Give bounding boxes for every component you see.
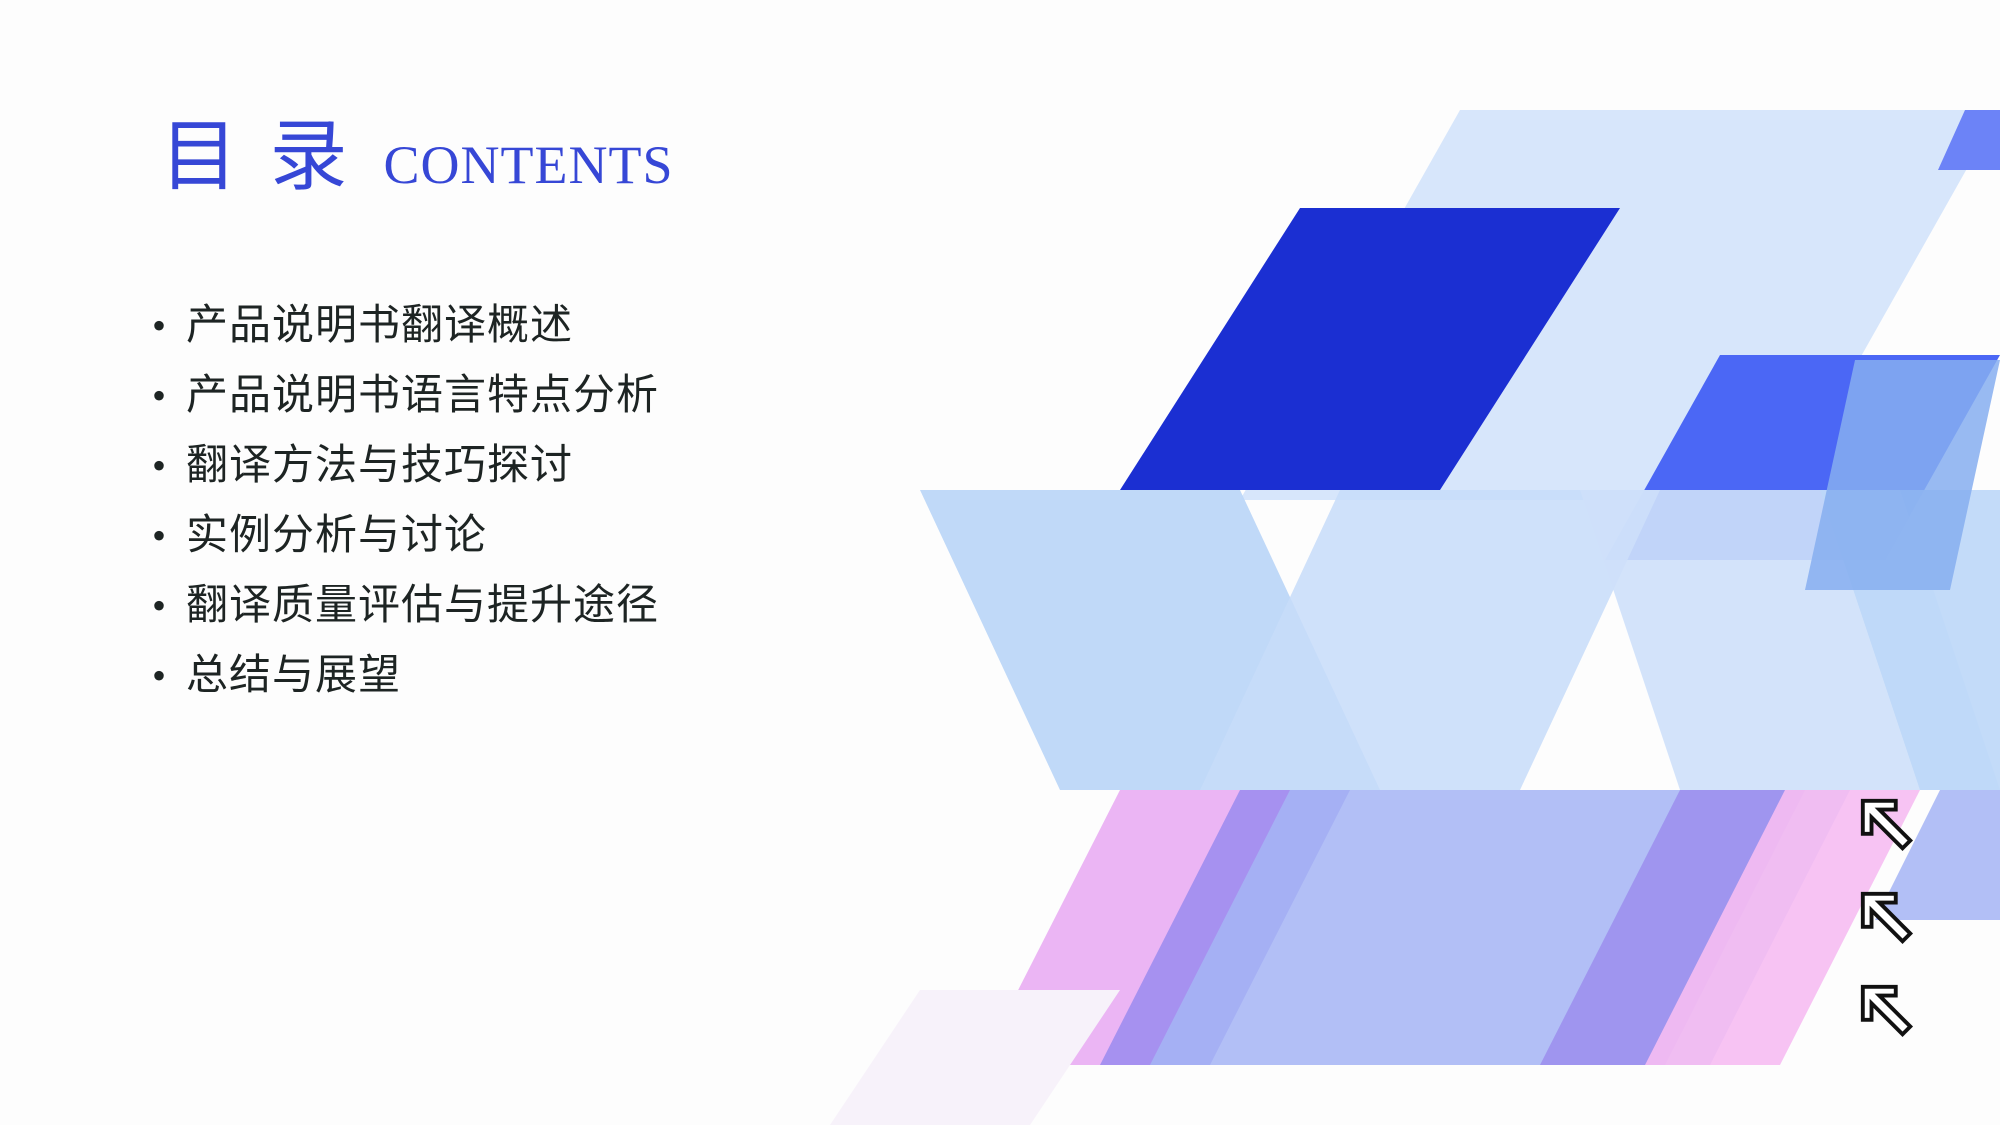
arrow-icon-cluster bbox=[1857, 795, 1927, 1045]
parallelogram-decoration bbox=[820, 0, 2000, 1125]
list-item[interactable]: • 翻译方法与技巧探讨 bbox=[152, 440, 659, 492]
list-item-label: 实例分析与讨论 bbox=[186, 510, 487, 562]
shape-periwinkle-wide bbox=[1150, 790, 1850, 1065]
page-title-cn: 目 录 bbox=[160, 118, 354, 196]
shape-deep-blue bbox=[1120, 208, 1620, 490]
bullet-icon: • bbox=[152, 650, 186, 702]
list-item-label: 总结与展望 bbox=[186, 650, 401, 702]
shape-orchid bbox=[980, 790, 1290, 1065]
page-title-en: CONTENTS bbox=[384, 138, 674, 192]
table-of-contents: • 产品说明书翻译概述 • 产品说明书语言特点分析 • 翻译方法与技巧探讨 • … bbox=[152, 300, 659, 720]
slide-canvas: 目 录 CONTENTS • 产品说明书翻译概述 • 产品说明书语言特点分析 •… bbox=[0, 0, 2000, 1125]
list-item-label: 产品说明书翻译概述 bbox=[186, 300, 573, 352]
shape-violet-left bbox=[1100, 790, 1350, 1065]
bullet-icon: • bbox=[152, 510, 186, 562]
shape-royal-blue-upper bbox=[1605, 355, 2000, 560]
arrow-up-left-icon[interactable] bbox=[1857, 888, 1919, 950]
shape-light-blue-center-right bbox=[1580, 490, 2000, 790]
page-title: 目 录 CONTENTS bbox=[160, 118, 674, 196]
list-item[interactable]: • 产品说明书翻译概述 bbox=[152, 300, 659, 352]
shape-royal-blue-corner bbox=[1938, 110, 2000, 170]
shape-light-blue-center bbox=[1200, 490, 1660, 790]
list-item-label: 产品说明书语言特点分析 bbox=[186, 370, 659, 422]
shape-light-blue-right bbox=[1820, 490, 2000, 790]
shape-light-blue-left-mirror bbox=[920, 490, 1380, 790]
arrow-up-left-icon[interactable] bbox=[1857, 981, 1919, 1043]
shape-mid-blue-right-block bbox=[1805, 360, 2000, 590]
bullet-icon: • bbox=[152, 370, 186, 422]
bullet-icon: • bbox=[152, 440, 186, 492]
arrow-up-left-icon[interactable] bbox=[1857, 795, 1919, 857]
content-column: 目 录 CONTENTS • 产品说明书翻译概述 • 产品说明书语言特点分析 •… bbox=[0, 0, 900, 1125]
bullet-icon: • bbox=[152, 300, 186, 352]
list-item-label: 翻译方法与技巧探讨 bbox=[186, 440, 573, 492]
list-item[interactable]: • 翻译质量评估与提升途径 bbox=[152, 580, 659, 632]
shape-violet-right bbox=[1540, 790, 1805, 1065]
shape-pale-blue-top-right bbox=[1240, 110, 2000, 500]
list-item[interactable]: • 总结与展望 bbox=[152, 650, 659, 702]
list-item[interactable]: • 实例分析与讨论 bbox=[152, 510, 659, 562]
list-item-label: 翻译质量评估与提升途径 bbox=[186, 580, 659, 632]
bullet-icon: • bbox=[152, 580, 186, 632]
list-item[interactable]: • 产品说明书语言特点分析 bbox=[152, 370, 659, 422]
